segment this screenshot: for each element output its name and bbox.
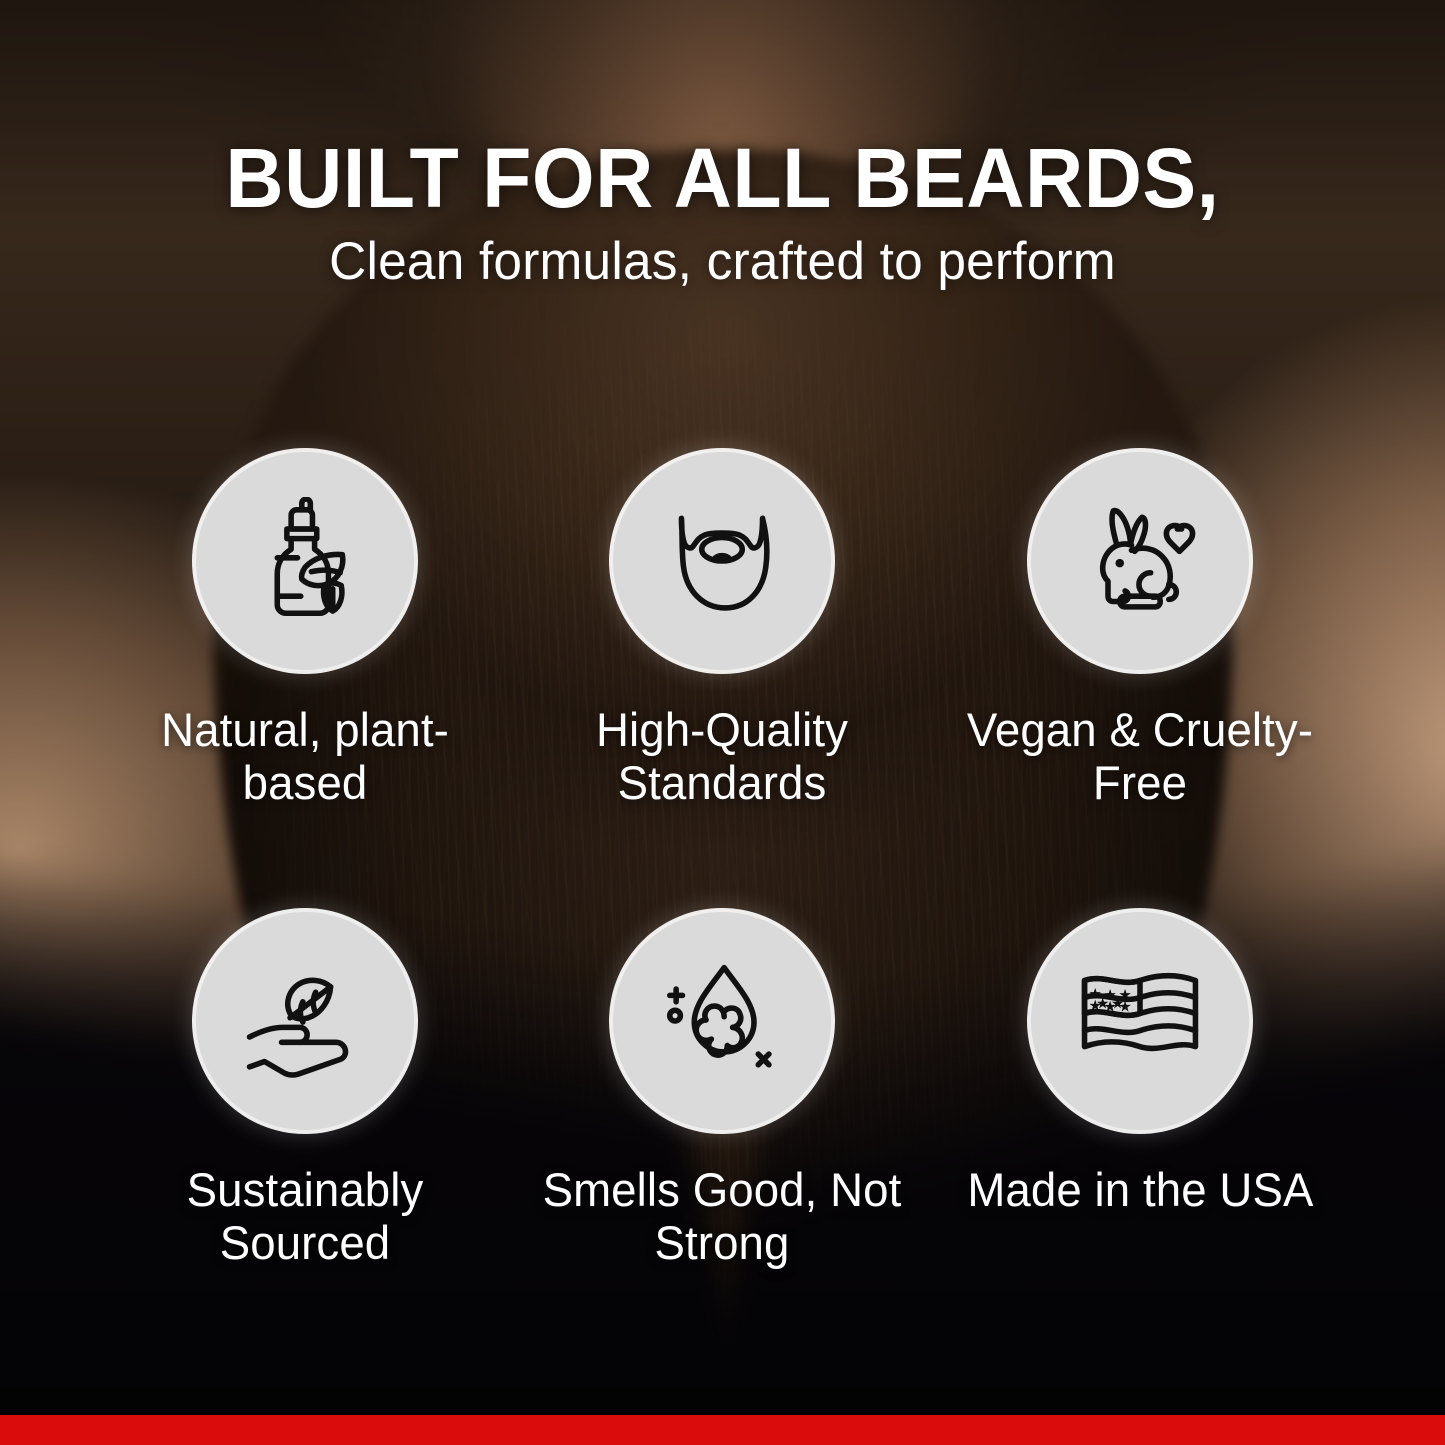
droplet-flower-icon: [658, 957, 786, 1085]
feature-item-made-in-usa: Made in the USA: [931, 912, 1349, 1372]
rabbit-heart-icon: [1076, 497, 1204, 625]
badge-circle: [196, 452, 414, 670]
hand-holding-leaf-icon: [241, 957, 369, 1085]
dropper-bottle-leaf-icon: [241, 497, 369, 625]
feature-item-vegan-cruelty-free: Vegan & Cruelty-Free: [931, 452, 1349, 912]
feature-grid: Natural, plant-based High-Quality Standa…: [96, 452, 1349, 1372]
page-subtitle: Clean formulas, crafted to perform: [22, 234, 1424, 290]
feature-label: Smells Good, Not Strong: [528, 1164, 916, 1269]
page-title: BUILT FOR ALL BEARDS,: [29, 136, 1416, 220]
badge-circle: [1031, 912, 1249, 1130]
badge-circle: [613, 912, 831, 1130]
usa-flag-icon: [1076, 957, 1204, 1085]
headline-block: BUILT FOR ALL BEARDS, Clean formulas, cr…: [0, 136, 1445, 290]
bottom-accent-bar: [0, 1415, 1445, 1445]
feature-item-smells-good-not-strong: Smells Good, Not Strong: [514, 912, 932, 1372]
feature-label: High-Quality Standards: [528, 704, 916, 809]
feature-label: Made in the USA: [967, 1164, 1313, 1217]
feature-item-high-quality-standards: High-Quality Standards: [514, 452, 932, 912]
badge-circle: [196, 912, 414, 1130]
feature-label: Vegan & Cruelty-Free: [946, 704, 1334, 809]
beard-care-benefits-infographic: BUILT FOR ALL BEARDS, Clean formulas, cr…: [0, 0, 1445, 1445]
badge-circle: [613, 452, 831, 670]
feature-item-natural-plant-based: Natural, plant-based: [96, 452, 514, 912]
feature-label: Natural, plant-based: [111, 704, 499, 809]
beard-icon: [658, 497, 786, 625]
badge-circle: [1031, 452, 1249, 670]
feature-item-sustainably-sourced: Sustainably Sourced: [96, 912, 514, 1372]
feature-label: Sustainably Sourced: [111, 1164, 499, 1269]
